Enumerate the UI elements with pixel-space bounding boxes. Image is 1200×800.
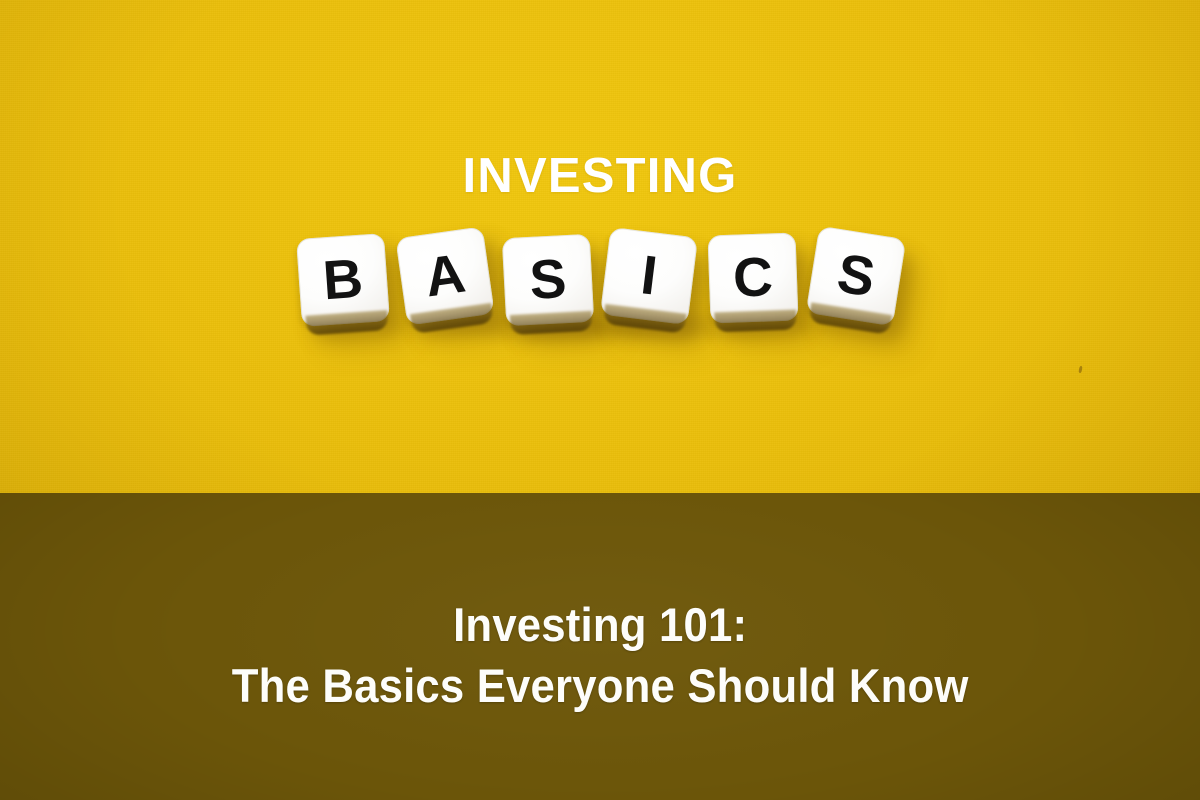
die-letter: I (638, 247, 660, 303)
die-letter: C (732, 249, 774, 305)
caption-band: Investing 101: The Basics Everyone Shoul… (0, 493, 1200, 800)
die-letter: S (528, 251, 568, 308)
article-title-line-2: The Basics Everyone Should Know (232, 656, 969, 716)
investing-overlay-word: INVESTING (0, 152, 1200, 201)
die-letter: A (421, 245, 468, 305)
hero-image: B A S I C S INVESTING Investing 101: The… (0, 0, 1200, 800)
article-title-line-1: Investing 101: (232, 595, 969, 655)
letter-die-i: I (600, 227, 698, 325)
article-title: Investing 101: The Basics Everyone Shoul… (232, 595, 969, 715)
die-letter: S (834, 245, 879, 305)
letter-die-c: C (707, 232, 798, 323)
letter-die-b: B (296, 233, 390, 327)
dice-row: B A S I C S (0, 0, 1200, 493)
letter-die-s-first: S (502, 234, 594, 326)
letter-die-s-second: S (806, 226, 907, 327)
die-letter: B (321, 250, 364, 308)
letter-die-a: A (395, 226, 494, 325)
